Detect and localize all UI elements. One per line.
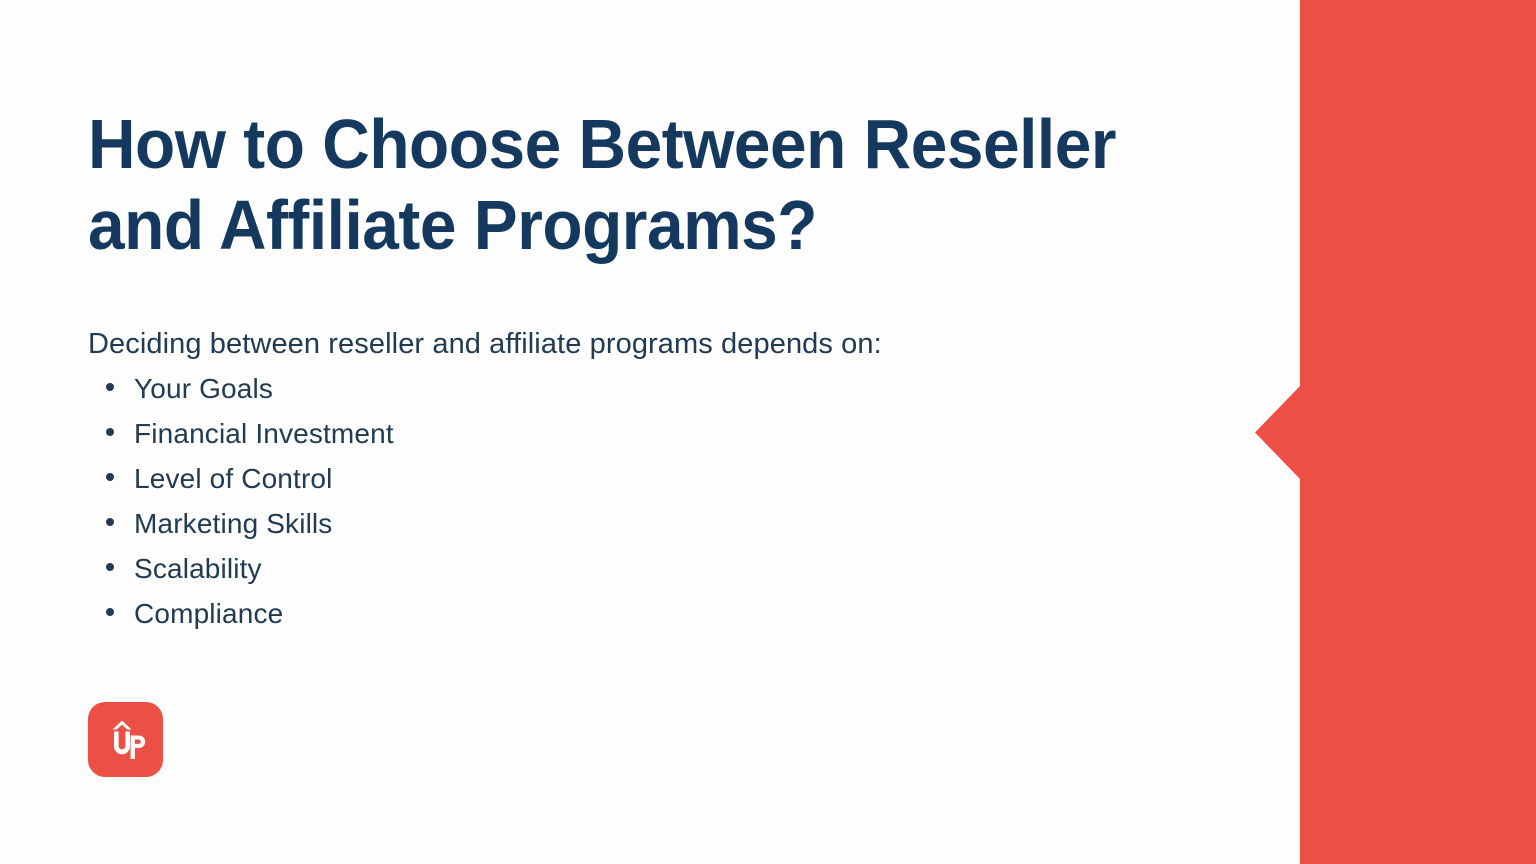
slide: How to Choose Between Reseller and Affil…	[0, 0, 1536, 864]
list-item: Marketing Skills	[106, 507, 394, 552]
bullet-dot-icon	[106, 518, 114, 526]
list-item-label: Marketing Skills	[134, 507, 332, 541]
right-red-band	[1300, 0, 1536, 864]
left-pointing-triangle-notch-icon	[1255, 385, 1301, 480]
list-item-label: Financial Investment	[134, 417, 394, 451]
intro-text: Deciding between reseller and affiliate …	[88, 326, 882, 364]
list-item-label: Level of Control	[134, 462, 333, 496]
content-column: How to Choose Between Reseller and Affil…	[0, 0, 1240, 864]
list-item: Financial Investment	[106, 417, 394, 462]
list-item-label: Scalability	[134, 552, 262, 586]
page-title: How to Choose Between Reseller and Affil…	[88, 104, 1169, 266]
list-item: Scalability	[106, 552, 394, 597]
criteria-list: Your Goals Financial Investment Level of…	[106, 372, 394, 642]
list-item: Level of Control	[106, 462, 394, 507]
bullet-dot-icon	[106, 608, 114, 616]
bullet-dot-icon	[106, 473, 114, 481]
list-item: Your Goals	[106, 372, 394, 417]
list-item-label: Your Goals	[134, 372, 273, 406]
list-item-label: Compliance	[134, 597, 283, 631]
brand-logo	[88, 702, 163, 777]
up-arrow-monogram-logo-icon	[88, 702, 163, 777]
bullet-dot-icon	[106, 428, 114, 436]
bullet-dot-icon	[106, 383, 114, 391]
list-item: Compliance	[106, 597, 394, 642]
bullet-dot-icon	[106, 563, 114, 571]
